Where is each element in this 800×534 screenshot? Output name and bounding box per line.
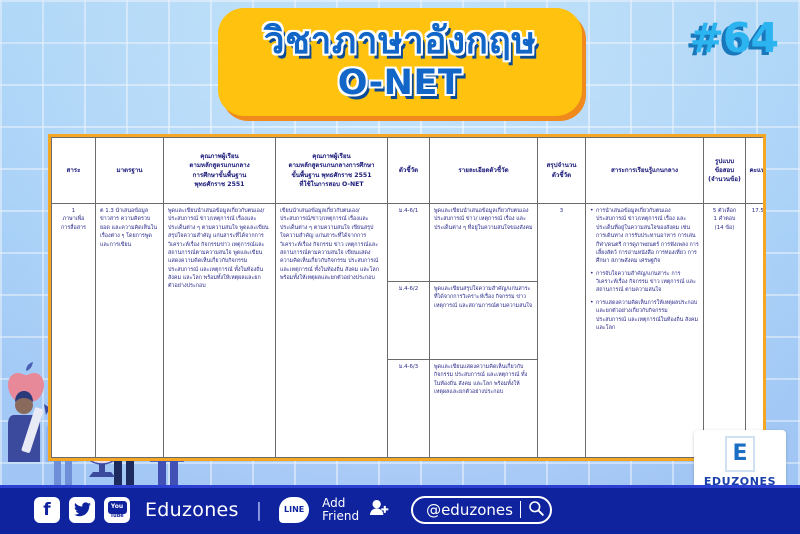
thai-subject-title: วิชาภาษาอังกฤษ	[264, 22, 536, 61]
handle-pill[interactable]: @eduzones	[411, 496, 552, 524]
search-glyph	[528, 500, 544, 516]
add-friend-line2: Friend	[322, 510, 359, 523]
handle-text: @eduzones	[426, 501, 513, 519]
add-person-icon[interactable]	[370, 499, 390, 521]
issue-number-badge: #64	[690, 14, 778, 62]
header-core-content: สาระการเรียนรู้แกนกลาง	[586, 138, 704, 204]
line-icon[interactable]: LINE	[279, 497, 309, 523]
twitter-bird-glyph	[74, 502, 91, 517]
cell-indicator-code: ม.4-6/1	[388, 204, 430, 282]
cell-quality-core: พูดและเขียนนำเสนอข้อมูลเกี่ยวกับตนเอง/ปร…	[164, 204, 276, 458]
header-indicator-count: สรุปจำนวนตัวชี้วัด	[538, 138, 586, 204]
curriculum-table-container: สาระ มาตรฐาน คุณภาพผู้เรียนตามหลักสูตรแก…	[48, 134, 766, 461]
title-banner: วิชาภาษาอังกฤษ O-NET	[218, 8, 582, 116]
cell-core-content: การนำเสนอข้อมูลเกี่ยวกับตนเอง ประสบการณ์…	[586, 204, 704, 458]
table-row: 1 ภาษาเพื่อ การสื่อสาร ต 1.3 นำเสนอข้อมู…	[52, 204, 767, 282]
cell-standard: ต 1.3 นำเสนอข้อมูล ข่าวสาร ความคิดรวบยอด…	[96, 204, 164, 458]
cell-indicator-code: ม.4-6/2	[388, 281, 430, 359]
cell-exam-format: 5 ตัวเลือก 1 คำตอบ (14 ข้อ)	[704, 204, 746, 458]
english-exam-title: O-NET	[338, 65, 463, 102]
add-person-glyph	[370, 499, 390, 516]
youtube-you-label: You	[108, 501, 127, 514]
cell-indicator-detail: พูดและเขียนแสดงความคิดเห็นเกี่ยวกับกิจกร…	[430, 359, 538, 457]
core-content-item: การนำเสนอข้อมูลเกี่ยวกับตนเอง ประสบการณ์…	[590, 207, 699, 266]
header-quality-core: คุณภาพผู้เรียนตามหลักสูตรแกนกลาง การศึกษ…	[164, 138, 276, 204]
header-indicator: ตัวชี้วัด	[388, 138, 430, 204]
header-standard: มาตรฐาน	[96, 138, 164, 204]
footer-separator: |	[256, 499, 262, 521]
core-content-item: การจับใจความสำคัญ/แก่นสาระ การวิเคราะห์เ…	[590, 270, 699, 295]
cell-indicator-detail: พูดและเขียนนำเสนอข้อมูลเกี่ยวกับตนเอง ปร…	[430, 204, 538, 282]
table-header-row: สาระ มาตรฐาน คุณภาพผู้เรียนตามหลักสูตรแก…	[52, 138, 767, 204]
youtube-icon[interactable]: You Tube	[104, 497, 130, 523]
cell-indicator-count: 3	[538, 204, 586, 458]
facebook-icon[interactable]: f	[34, 497, 60, 523]
cell-quality-onet: เขียนนำเสนอข้อมูลเกี่ยวกับตนเอง/ประสบการ…	[276, 204, 388, 458]
cell-score: 17.50	[746, 204, 767, 458]
header-sara: สาระ	[52, 138, 96, 204]
line-add-friend-label[interactable]: Add Friend	[322, 497, 359, 522]
header-quality-onet: คุณภาพผู้เรียนตามหลักสูตรแกนกลางการศึกษา…	[276, 138, 388, 204]
cell-indicator-detail: พูดและเขียนสรุปใจความสำคัญ/แก่นสาระที่ได…	[430, 281, 538, 359]
curriculum-table: สาระ มาตรฐาน คุณภาพผู้เรียนตามหลักสูตรแก…	[51, 137, 766, 458]
cell-indicator-code: ม.4-6/3	[388, 359, 430, 457]
header-exam-format: รูปแบบข้อสอบ (จำนวนข้อ)	[704, 138, 746, 204]
cell-sara: 1 ภาษาเพื่อ การสื่อสาร	[52, 204, 96, 458]
search-icon[interactable]	[528, 500, 544, 520]
social-footer-bar: f You Tube Eduzones | LINE Add Friend @e…	[0, 485, 800, 534]
eduzones-e-icon: E	[725, 436, 755, 472]
add-friend-line1: Add	[322, 497, 359, 510]
header-score: คะแนน	[746, 138, 767, 204]
brand-name: Eduzones	[145, 499, 239, 521]
youtube-tube-label: Tube	[110, 514, 123, 519]
twitter-icon[interactable]	[69, 497, 95, 523]
core-content-item: การแสดงความคิดเห็นการให้เหตุผลประกอบและย…	[590, 299, 699, 333]
header-indicator-detail: รายละเอียดตัวชี้วัด	[430, 138, 538, 204]
handle-divider	[520, 501, 522, 518]
